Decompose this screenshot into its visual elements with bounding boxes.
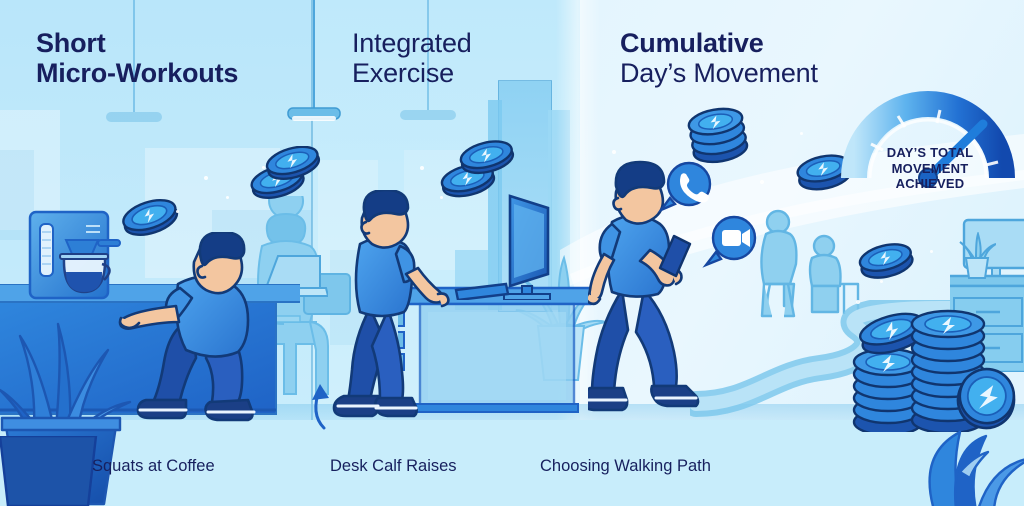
small-plant-icon (956, 232, 996, 280)
phone-call-icon (656, 160, 722, 220)
sparkle (176, 210, 179, 213)
lightning-coin-icon (118, 196, 182, 238)
lightning-coin-icon (852, 236, 924, 284)
sparkle (880, 280, 883, 283)
person-squatting (118, 232, 308, 424)
sparkle (420, 166, 424, 170)
sparkle (440, 196, 443, 199)
sparkle (226, 196, 229, 199)
ceiling-light-1 (284, 0, 344, 126)
panel-3-heading-line-1: Cumulative (620, 28, 818, 58)
gauge-label: DAY’S TOTAL MOVEMENT ACHIEVED (846, 145, 1014, 192)
panel-2-heading: Integrated Exercise (352, 28, 472, 88)
panel-2-heading-line-2: Exercise (352, 58, 472, 88)
gauge-label-line-3: ACHIEVED (846, 176, 1014, 192)
panel-2-heading-line-1: Integrated (352, 28, 472, 58)
lightning-coin-icon (682, 104, 770, 166)
gauge-label-line-1: DAY’S TOTAL (846, 145, 1014, 161)
panel-3-heading-line-2: Day’s Movement (620, 58, 818, 88)
sparkle (204, 176, 208, 180)
video-call-icon (700, 212, 766, 274)
person-calf-raises (330, 190, 500, 422)
sparkle (262, 166, 265, 169)
potted-plant-right (916, 400, 1024, 506)
panel-1-heading-line-2: Micro-Workouts (36, 58, 238, 88)
sparkle (930, 250, 933, 253)
up-arrow-icon (300, 374, 344, 432)
infographic-canvas: DAY’S TOTAL MOVEMENT ACHIEVED Short Micr… (0, 0, 1024, 506)
panel-3-heading: Cumulative Day’s Movement (620, 28, 818, 88)
sparkle (800, 132, 803, 135)
sparkle (612, 150, 616, 154)
sparkle (760, 180, 764, 184)
sparkle (856, 300, 860, 304)
panel-1-caption: Squats at Coffee (92, 457, 215, 476)
panel-2-caption: Desk Calf Raises (330, 457, 457, 476)
panel-3-caption: Choosing Walking Path (540, 457, 711, 476)
panel-1-heading: Short Micro-Workouts (36, 28, 238, 88)
panel-1-heading-line-1: Short (36, 28, 238, 58)
lightning-coin-icon (246, 146, 324, 204)
gauge-label-line-2: MOVEMENT (846, 161, 1014, 177)
lightning-coin-icon (436, 140, 522, 202)
